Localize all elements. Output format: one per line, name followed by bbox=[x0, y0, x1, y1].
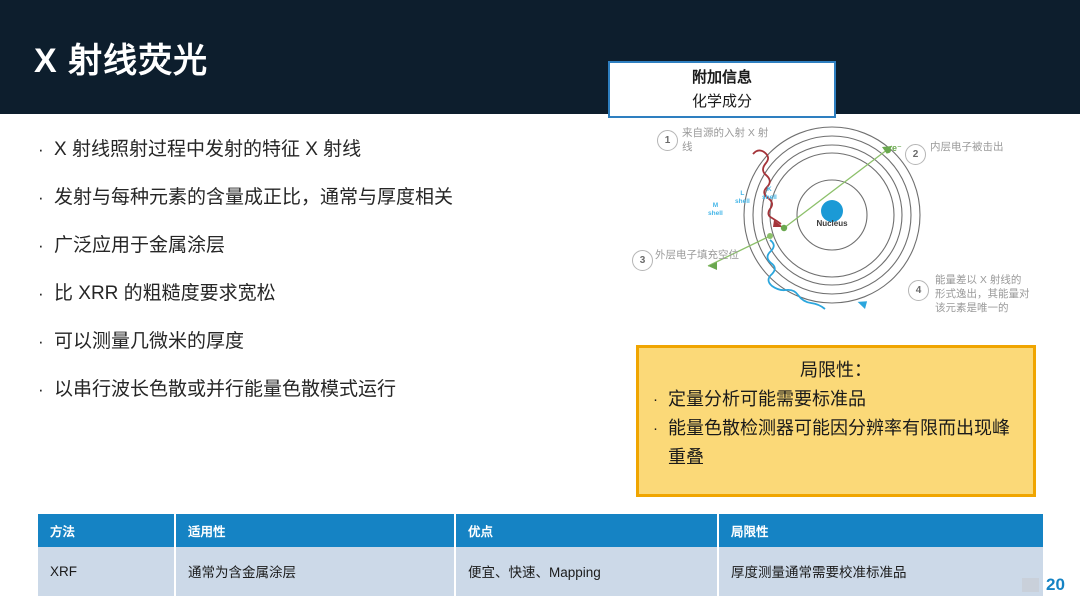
cell-advantages: 便宜、快速、Mapping bbox=[455, 547, 718, 596]
bullet-marker: · bbox=[38, 233, 54, 259]
bullet-text: 广泛应用于金属涂层 bbox=[54, 233, 618, 259]
electron-label: e⁻ bbox=[892, 143, 902, 154]
emitted-ray-arrowhead bbox=[856, 299, 867, 309]
bullet-marker: · bbox=[38, 281, 54, 307]
cell-applicability: 通常为含金属涂层 bbox=[175, 547, 455, 596]
bullet-marker: · bbox=[38, 137, 54, 163]
limitations-item: · 定量分析可能需要标准品 bbox=[653, 385, 1019, 414]
additional-info-box: 附加信息 化学成分 bbox=[608, 61, 836, 118]
bullet-text: 以串行波长色散或并行能量色散模式运行 bbox=[54, 377, 618, 403]
column-header-applicability: 适用性 bbox=[175, 514, 455, 547]
callout-text-1: 来自源的入射 X 射线 bbox=[682, 126, 774, 154]
k-shell-label: K shell bbox=[762, 186, 777, 201]
bullet-text: X 射线照射过程中发射的特征 X 射线 bbox=[54, 137, 618, 163]
slide-header: X 射线荧光 bbox=[0, 0, 1080, 114]
l-shell-label: L shell bbox=[735, 190, 750, 205]
method-comparison-table: 方法 适用性 优点 局限性 XRF 通常为含金属涂层 便宜、快速、Mapping… bbox=[38, 514, 1043, 596]
cell-limitations: 厚度测量通常需要校准标准品 bbox=[718, 547, 1043, 596]
bullet-marker: · bbox=[653, 385, 668, 414]
bullet-marker: · bbox=[38, 185, 54, 211]
info-box-subtitle: 化学成分 bbox=[692, 91, 752, 112]
table-row: XRF 通常为含金属涂层 便宜、快速、Mapping 厚度测量通常需要校准标准品 bbox=[38, 547, 1043, 596]
callout-text-2: 内层电子被击出 bbox=[930, 140, 1010, 154]
callout-number-3: 3 bbox=[632, 250, 653, 271]
callout-number-4: 4 bbox=[908, 280, 929, 301]
list-item: · 广泛应用于金属涂层 bbox=[38, 233, 618, 259]
cell-method: XRF bbox=[38, 547, 175, 596]
nucleus-label: Nucleus bbox=[803, 219, 861, 228]
bullet-text: 发射与每种元素的含量成正比，通常与厚度相关 bbox=[54, 185, 618, 211]
list-item: · 可以测量几微米的厚度 bbox=[38, 329, 618, 355]
column-header-advantages: 优点 bbox=[455, 514, 718, 547]
info-box-title: 附加信息 bbox=[692, 67, 752, 88]
list-item: · X 射线照射过程中发射的特征 X 射线 bbox=[38, 137, 618, 163]
limitations-item-text: 能量色散检测器可能因分辨率有限而出现峰重叠 bbox=[668, 414, 1019, 472]
column-header-method: 方法 bbox=[38, 514, 175, 547]
m-shell-label: M shell bbox=[708, 202, 723, 217]
callout-number-1: 1 bbox=[657, 130, 678, 151]
callout-number-2: 2 bbox=[905, 144, 926, 165]
limitations-item: · 能量色散检测器可能因分辨率有限而出现峰重叠 bbox=[653, 414, 1019, 472]
limitations-item-text: 定量分析可能需要标准品 bbox=[668, 385, 1019, 414]
page-number: 20 bbox=[1046, 575, 1065, 595]
bullet-marker: · bbox=[653, 414, 668, 443]
bullet-marker: · bbox=[38, 329, 54, 355]
filling-electron-marker bbox=[767, 233, 773, 239]
bullet-text: 可以测量几微米的厚度 bbox=[54, 329, 618, 355]
atom-diagram: M shell L shell K shell Nucleus e⁻ 1 来自源… bbox=[620, 118, 1075, 333]
page-number-marker bbox=[1022, 578, 1039, 592]
list-item: · 发射与每种元素的含量成正比，通常与厚度相关 bbox=[38, 185, 618, 211]
page-title: X 射线荧光 bbox=[34, 33, 208, 82]
column-header-limitations: 局限性 bbox=[718, 514, 1043, 547]
bullet-list: · X 射线照射过程中发射的特征 X 射线 · 发射与每种元素的含量成正比，通常… bbox=[38, 137, 618, 425]
limitations-title: 局限性： bbox=[653, 357, 1019, 383]
list-item: · 比 XRR 的粗糙度要求宽松 bbox=[38, 281, 618, 307]
vacancy-marker bbox=[781, 225, 787, 231]
table-header-row: 方法 适用性 优点 局限性 bbox=[38, 514, 1043, 547]
bullet-marker: · bbox=[38, 377, 54, 403]
bullet-text: 比 XRR 的粗糙度要求宽松 bbox=[54, 281, 618, 307]
list-item: · 以串行波长色散或并行能量色散模式运行 bbox=[38, 377, 618, 403]
callout-text-3: 外层电子填充空位 bbox=[655, 248, 773, 262]
callout-text-4: 能量差以 X 射线的形式逸出，其能量对该元素是唯一的 bbox=[935, 273, 1031, 315]
limitations-box: 局限性： · 定量分析可能需要标准品 · 能量色散检测器可能因分辨率有限而出现峰… bbox=[636, 345, 1036, 497]
ejected-electron-marker bbox=[885, 147, 891, 153]
